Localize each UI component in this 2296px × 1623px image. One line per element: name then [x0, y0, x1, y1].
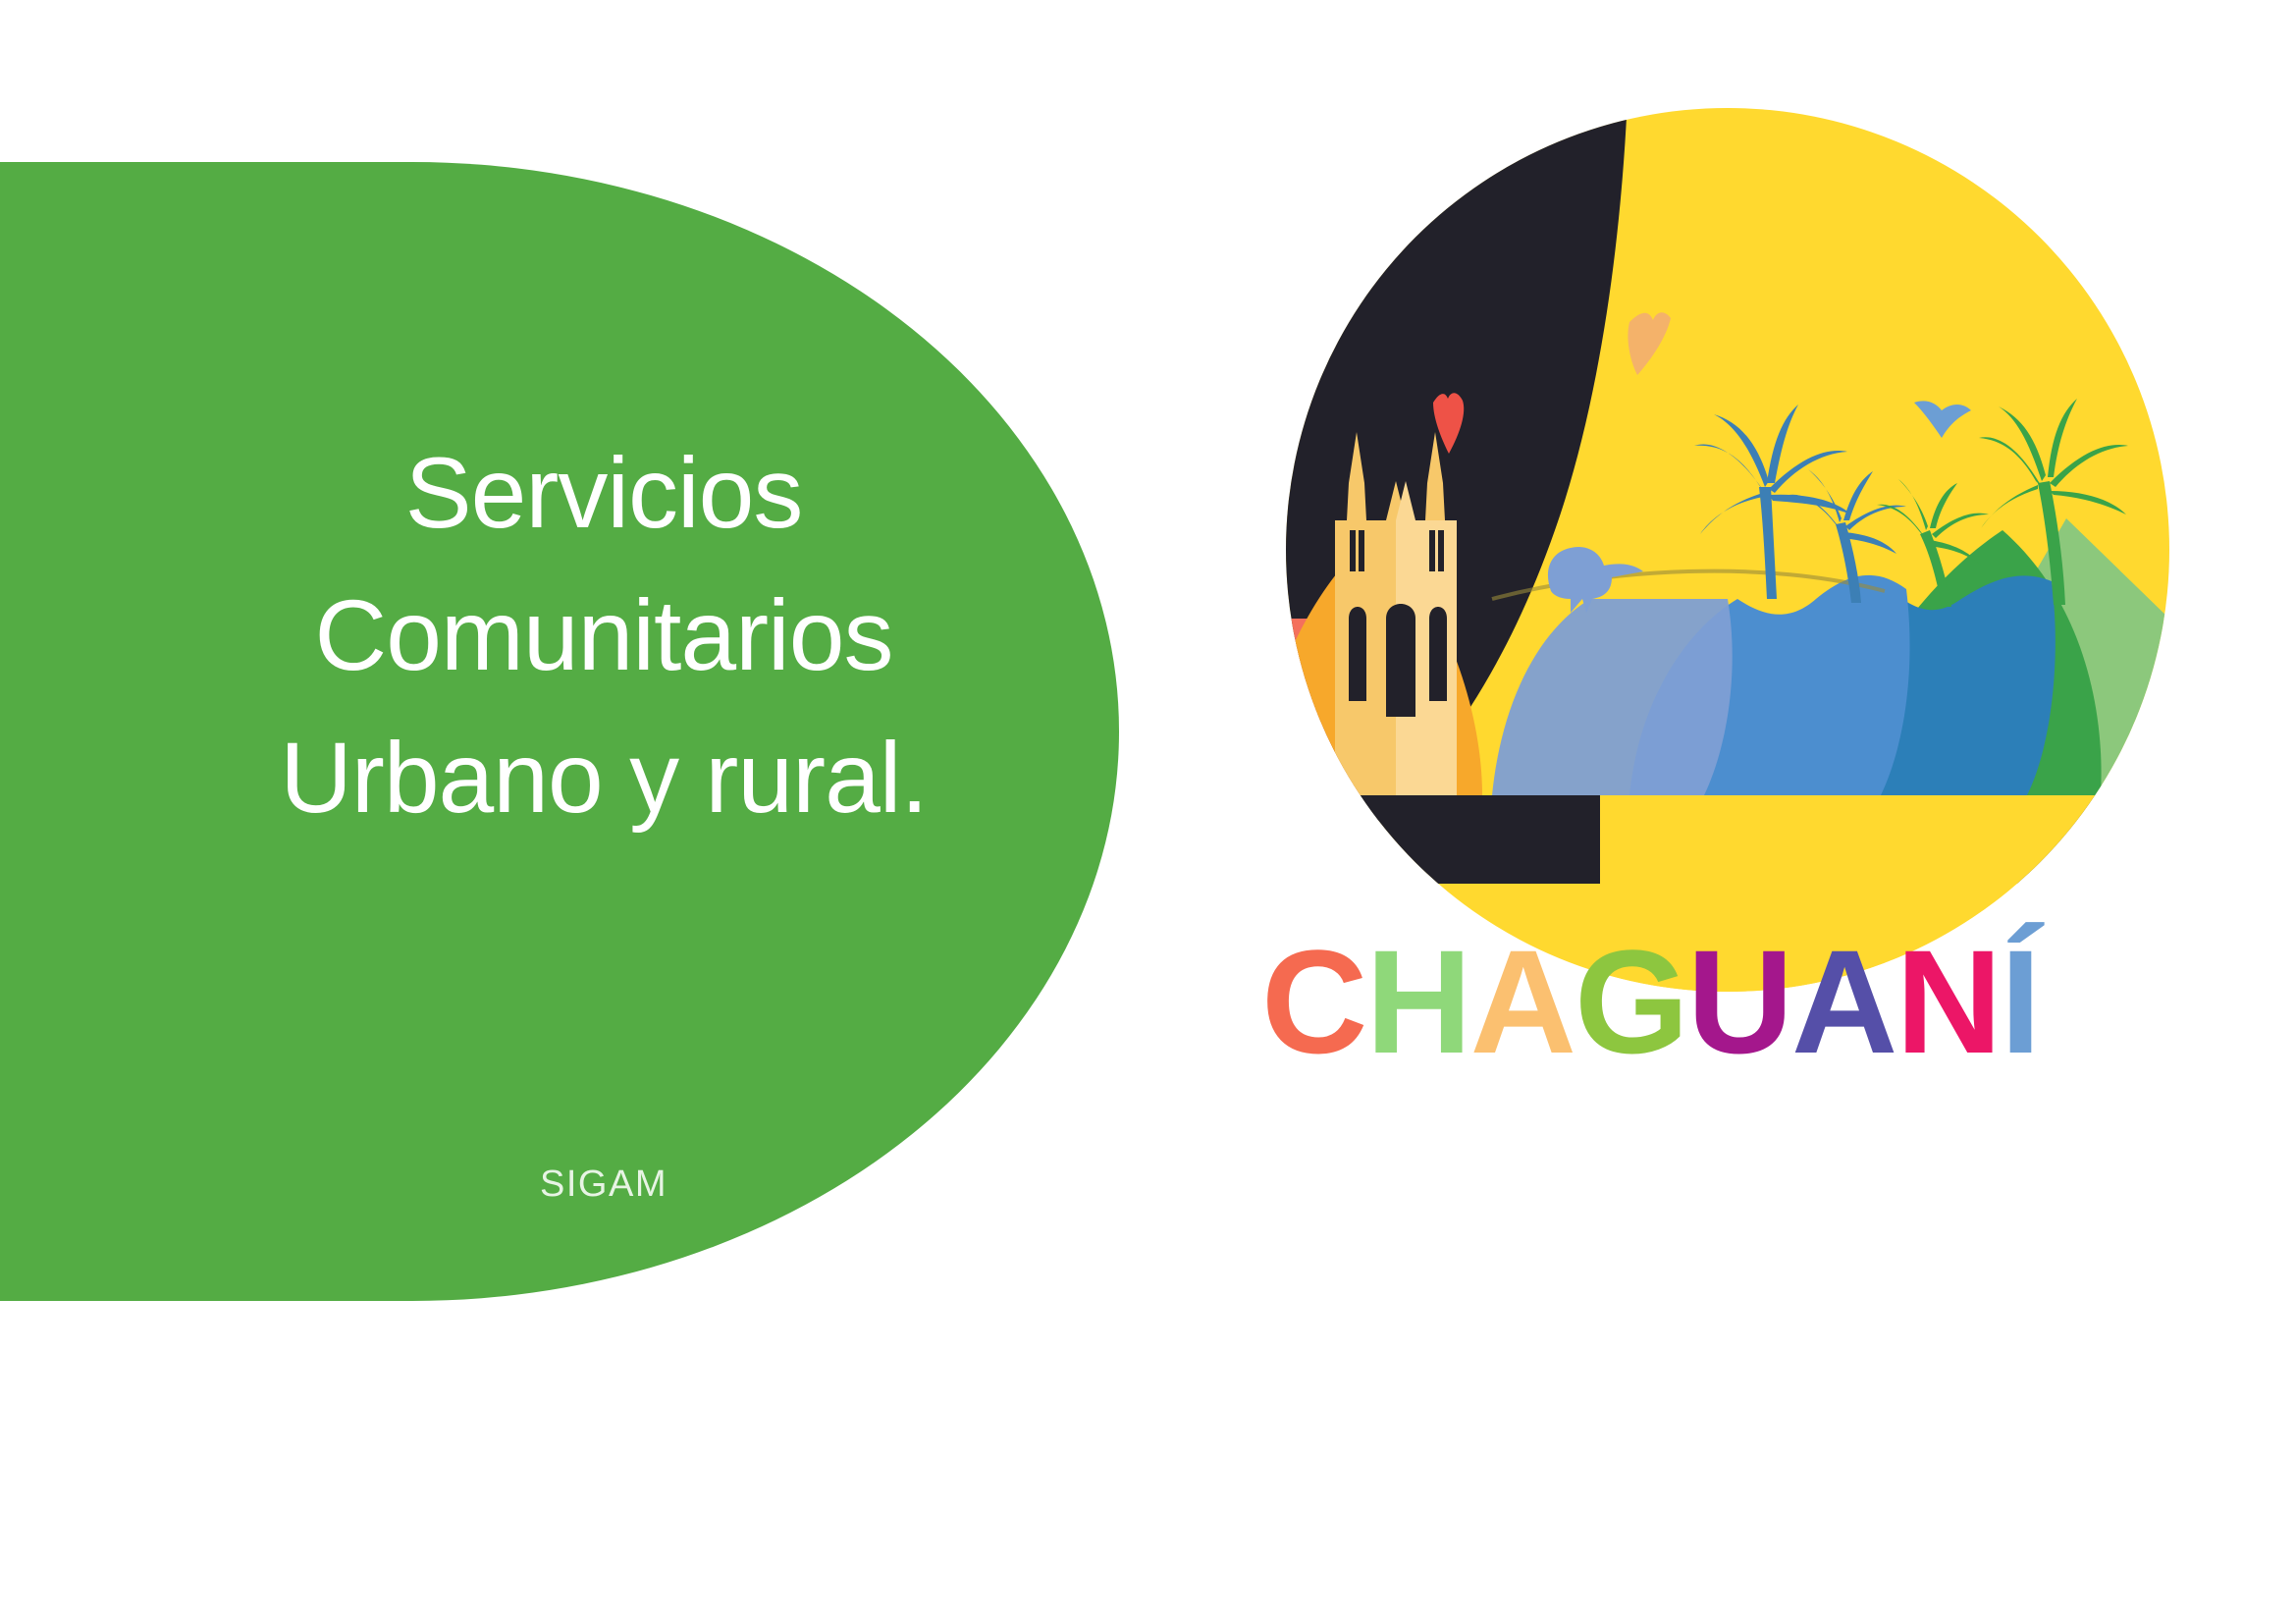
wordmark-letter-c: C	[1261, 928, 1365, 1075]
wordmark-letter-a1: A	[1470, 928, 1575, 1075]
chaguani-wordmark: C H A G U A N Í	[1261, 928, 2039, 1075]
bird-white-icon	[1166, 387, 1211, 418]
subtitle-sigam: SIGAM	[69, 1163, 1139, 1206]
wordmark-letter-g: G	[1575, 928, 1687, 1075]
wordmark-letter-i-accent: Í	[2001, 928, 2040, 1075]
slide-canvas: Servicios Comunitarios Urbano y rural. S…	[0, 0, 2296, 1623]
wordmark-letter-a2: A	[1791, 928, 1896, 1075]
chaguani-logo	[1139, 108, 2296, 992]
church-icon	[1335, 432, 1457, 795]
wordmark-letter-n: N	[1896, 928, 2000, 1075]
green-background-panel	[0, 162, 1119, 1301]
wordmark-letter-u: U	[1687, 928, 1791, 1075]
wordmark-letter-h: H	[1365, 928, 1469, 1075]
